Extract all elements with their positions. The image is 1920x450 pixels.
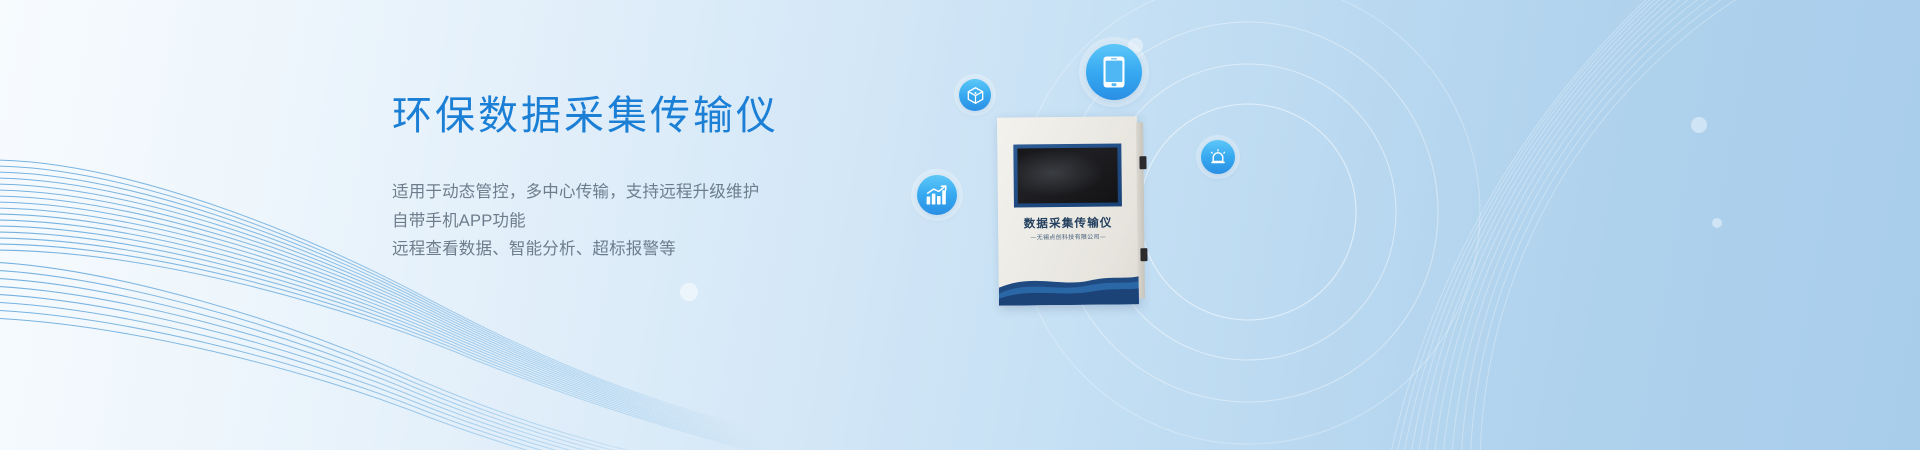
product-visual: 数据采集传输仪 —无锡点创科技有限公司—: [900, 0, 1600, 450]
device-screen-bezel: [1013, 143, 1122, 207]
device-lcd-screen: [1017, 147, 1118, 203]
chart-icon[interactable]: [917, 175, 957, 215]
device-hinge-bottom: [1140, 248, 1147, 261]
phone-icon[interactable]: [1086, 44, 1142, 100]
cube-icon[interactable]: [959, 79, 991, 111]
bokeh-dot: [1691, 117, 1707, 133]
bokeh-dot: [1712, 218, 1722, 228]
device-wave-graphic: [999, 270, 1139, 305]
bokeh-dot: [680, 283, 698, 301]
data-acquisition-device: 数据采集传输仪 —无锡点创科技有限公司—: [997, 116, 1139, 305]
device-label-title: 数据采集传输仪: [998, 214, 1138, 231]
alarm-icon[interactable]: [1201, 140, 1235, 174]
device-label-company: —无锡点创科技有限公司—: [998, 231, 1138, 241]
product-hero-banner: 环保数据采集传输仪 适用于动态管控，多中心传输，支持远程升级维护 自带手机APP…: [0, 0, 1920, 450]
device-hinge-top: [1139, 156, 1146, 169]
